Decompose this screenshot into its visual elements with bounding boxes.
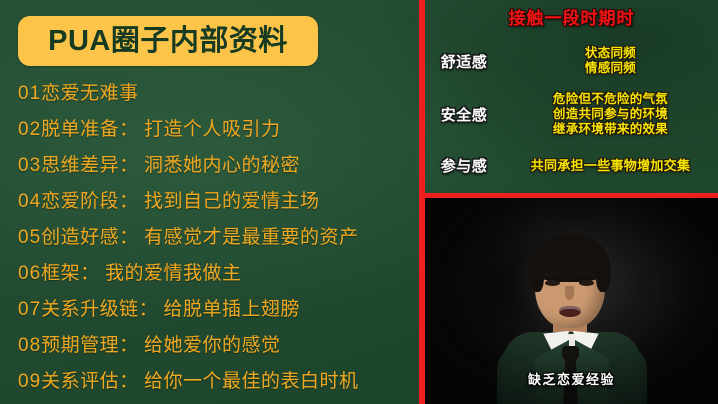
note-line: 危险但不危险的气氛 [503,92,718,107]
video-subtitle: 缺乏恋爱经验 [425,369,718,388]
slide-canvas: PUA圈子内部资料 01恋爱无难事 02脱单准备： 打造个人吸引力03思维差异：… [0,0,718,404]
note-row-comfort: 舒适感 状态同频 情感同频 [425,46,718,76]
outline-item-separator: ： [119,227,138,248]
mouth [559,306,581,317]
outline-item-separator: ： [80,263,99,284]
outline-item: 02脱单准备： 打造个人吸引力 [18,112,418,148]
outline-item-number: 05 [18,227,41,248]
note-label-participation: 参与感 [425,155,503,176]
video-frame[interactable]: 缺乏恋爱经验 [425,198,718,404]
outline-item-number: 09 [18,371,41,392]
hair [530,234,610,282]
outline-item-detail: 找到自己的爱情主场 [144,191,320,212]
outline-item: 01恋爱无难事 [18,76,418,112]
outline-item-topic: 框架 [41,263,80,284]
outline-item: 05创造好感： 有感觉才是最重要的资产 [18,220,418,256]
outline-item-number: 08 [18,335,41,356]
outline-item-separator: ： [119,371,138,392]
note-row-participation: 参与感 共同承担一些事物增加交集 [425,155,718,176]
eye-right [579,280,594,286]
note-row-safety: 安全感 危险但不危险的气氛 创造共同参与的环境 继承环境带来的效果 [425,92,718,137]
note-lines-comfort: 状态同频 情感同频 [503,46,718,76]
necktie-knot [562,346,579,361]
note-line: 创造共同参与的环境 [503,107,718,122]
course-title-text: PUA圈子内部资料 [48,27,288,56]
outline-item-topic: 恋爱阶段 [41,191,119,212]
outline-item-number: 06 [18,263,41,284]
outline-item-detail: 给你一个最佳的表白时机 [144,371,359,392]
outline-item-detail: 给她爱你的感觉 [144,335,281,356]
note-line: 继承环境带来的效果 [503,122,718,137]
presenter-video-panel[interactable]: 缺乏恋爱经验 [419,193,718,404]
outline-item-topic: 思维差异 [41,155,119,176]
outline-item-detail: 洞悉她内心的秘密 [144,155,300,176]
outline-item-topic: 创造好感 [41,227,119,248]
eye-left [545,280,560,286]
outline-item-topic: 预期管理 [41,335,119,356]
outline-item-detail: 有感觉才是最重要的资产 [144,227,359,248]
notes-panel: 接触一段时期时 舒适感 状态同频 情感同频 安全感 危险但不危险的气氛 创造共同… [425,0,718,196]
outline-item-topic: 关系升级链 [41,299,139,320]
outline-item: 08预期管理： 给她爱你的感觉 [18,328,418,364]
outline-item-topic: 关系评估 [41,371,119,392]
note-label-safety: 安全感 [425,104,503,125]
outline-item-topic: 恋爱无难事 [41,83,139,104]
note-lines-participation: 共同承担一些事物增加交集 [503,158,718,173]
outline-item-separator: ： [119,335,138,356]
outline-item-number: 01 [18,83,41,104]
outline-item-detail: 我的爱情我做主 [105,263,242,284]
nose [565,286,574,300]
notes-heading-text: 接触一段时期时 [425,4,718,29]
outline-item-separator: ： [139,299,158,320]
outline-item-number: 03 [18,155,41,176]
outline-item-number: 04 [18,191,41,212]
note-lines-safety: 危险但不危险的气氛 创造共同参与的环境 继承环境带来的效果 [503,92,718,137]
outline-item: 07关系升级链： 给脱单插上翅膀 [18,292,418,328]
outline-item-separator: ： [119,155,138,176]
outline-item-number: 02 [18,119,41,140]
outline-item-detail: 给脱单插上翅膀 [163,299,300,320]
outline-item: 04恋爱阶段： 找到自己的爱情主场 [18,184,418,220]
note-line: 状态同频 [503,46,718,61]
outline-item-number: 07 [18,299,41,320]
course-title-badge: PUA圈子内部资料 [18,16,318,66]
course-outline-panel: PUA圈子内部资料 01恋爱无难事 02脱单准备： 打造个人吸引力03思维差异：… [0,0,420,404]
note-label-comfort: 舒适感 [425,51,503,72]
note-line: 情感同频 [503,61,718,76]
outline-item-topic: 脱单准备 [41,119,119,140]
outline-item: 06框架： 我的爱情我做主 [18,256,418,292]
note-line: 共同承担一些事物增加交集 [503,158,718,173]
outline-item-separator: ： [119,119,138,140]
outline-item-detail: 打造个人吸引力 [144,119,281,140]
outline-list: 01恋爱无难事 02脱单准备： 打造个人吸引力03思维差异： 洞悉她内心的秘密0… [18,76,418,400]
outline-item: 03思维差异： 洞悉她内心的秘密 [18,148,418,184]
outline-item: 09关系评估： 给你一个最佳的表白时机 [18,364,418,400]
outline-item-separator: ： [119,191,138,212]
